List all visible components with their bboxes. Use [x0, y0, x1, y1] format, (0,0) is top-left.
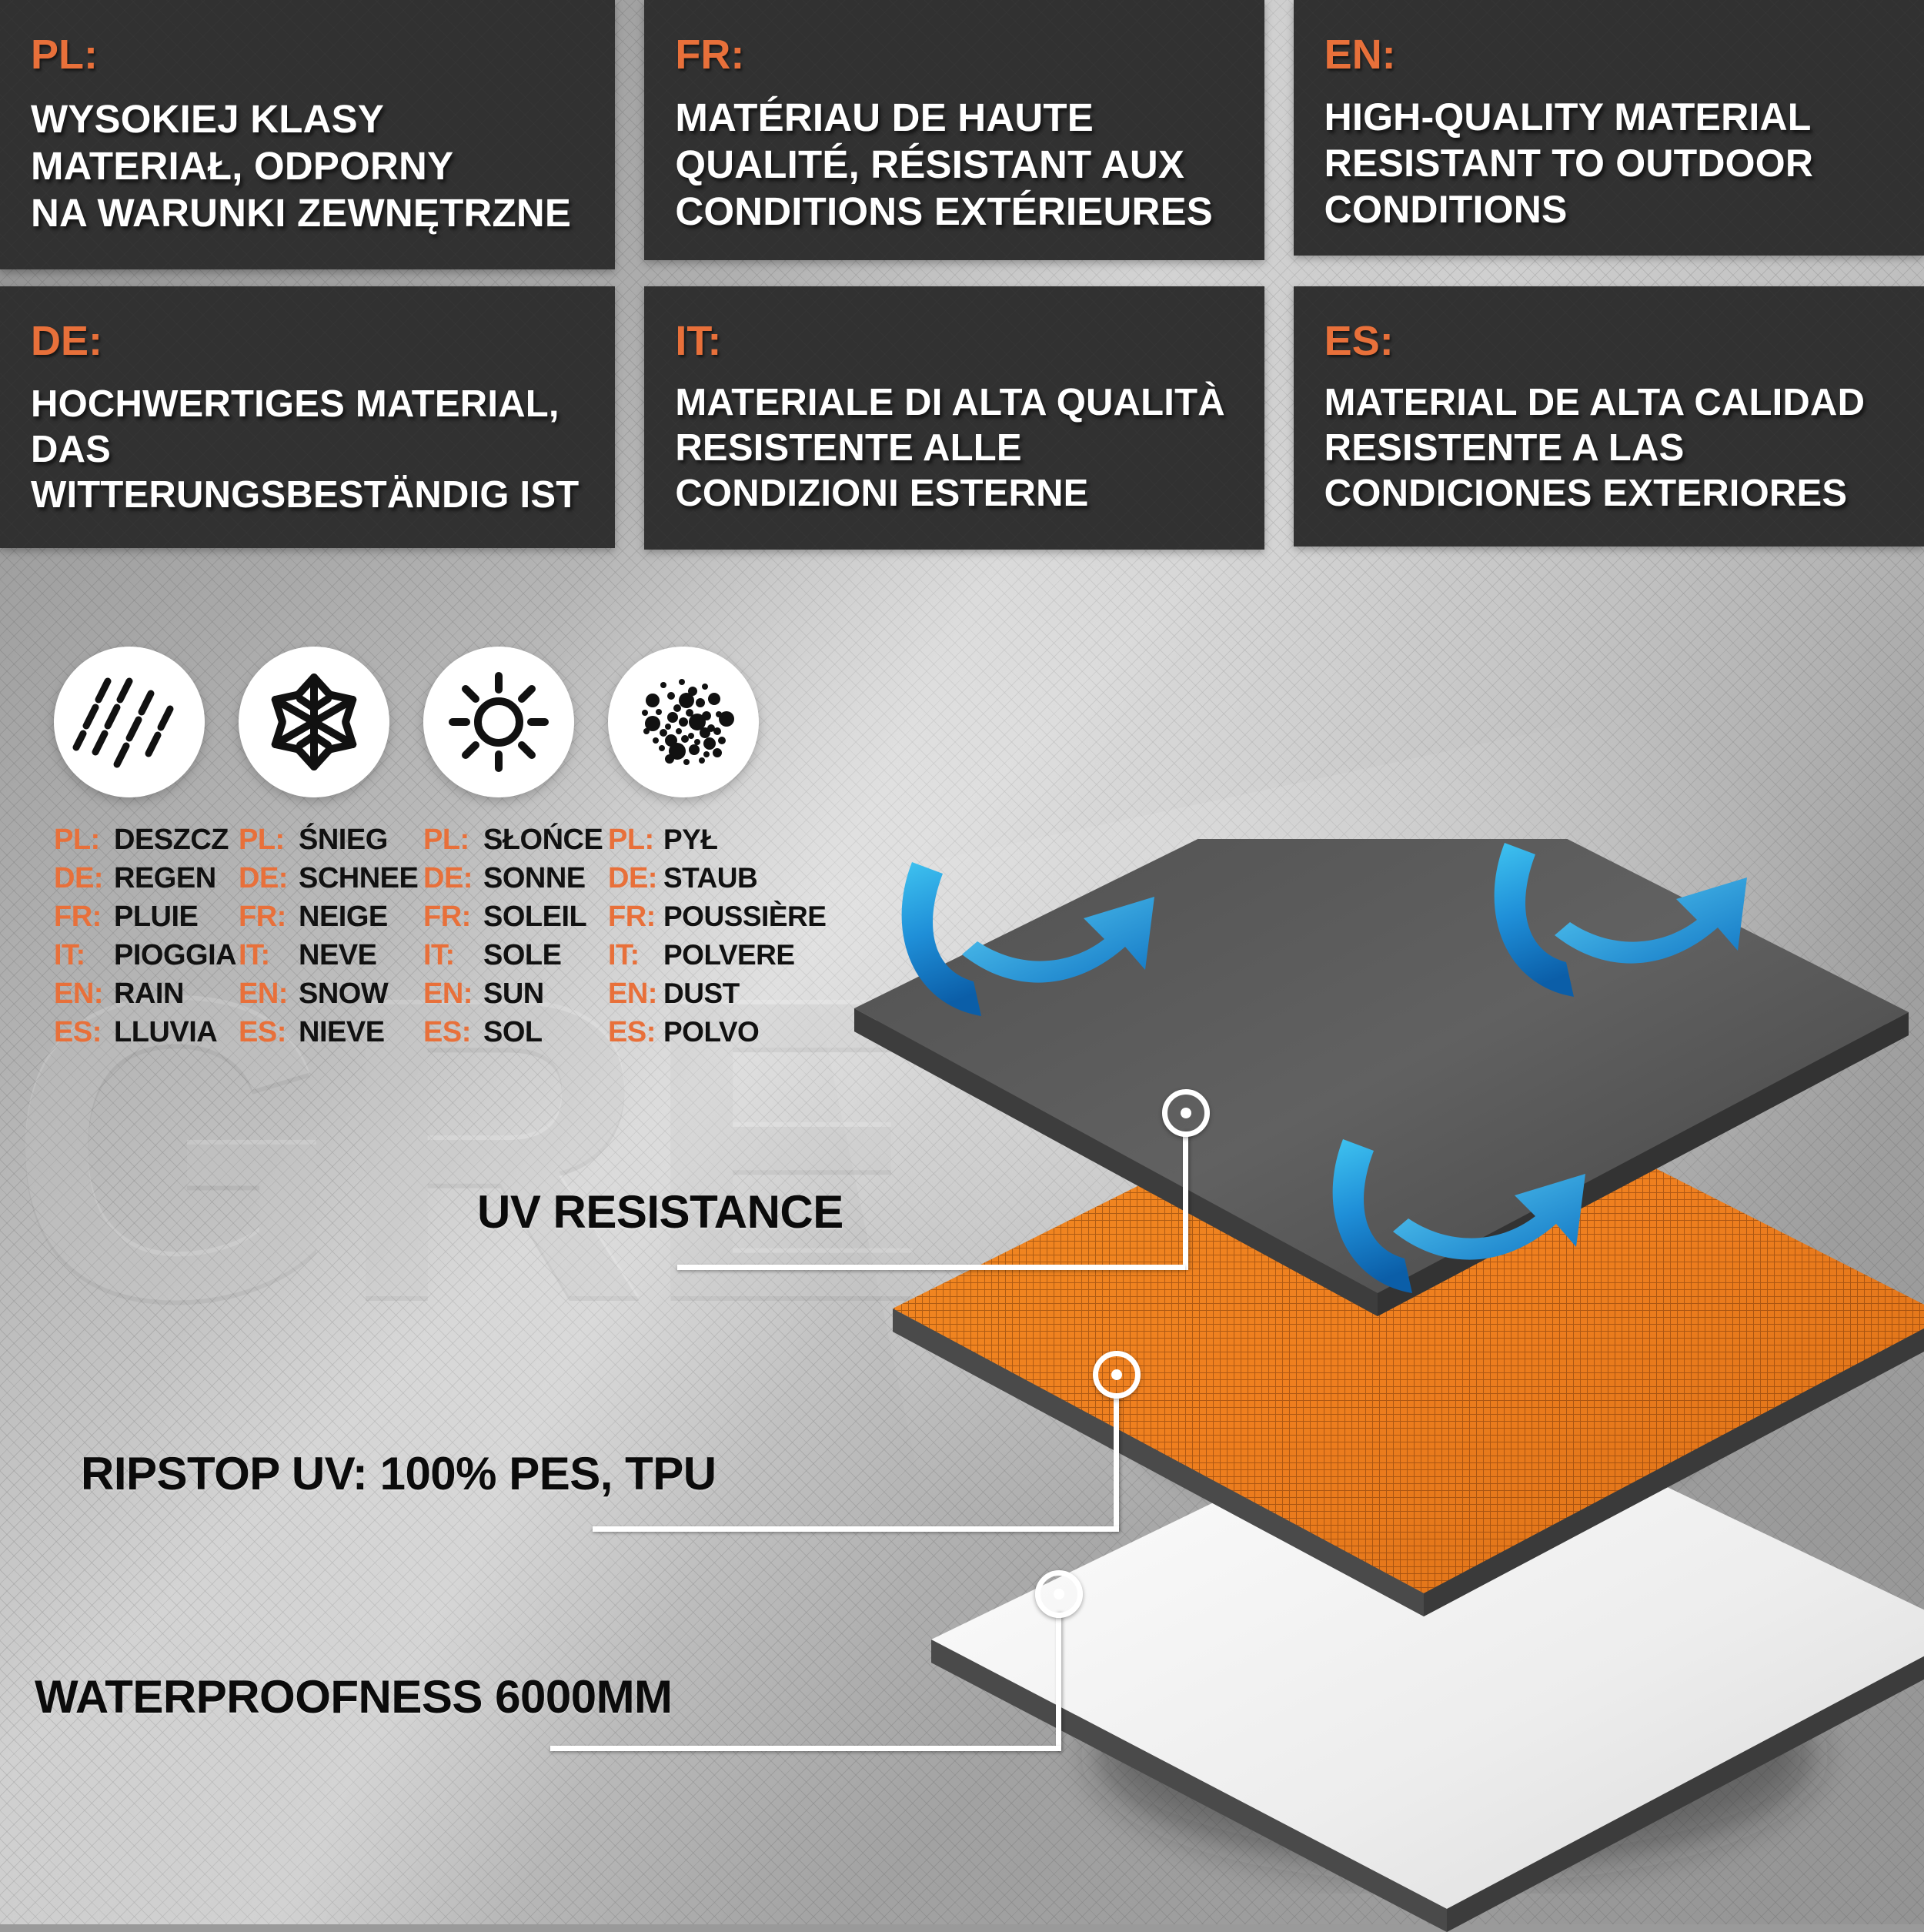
- lang-word: POLVERE: [663, 939, 795, 971]
- dust-icon-badge: [608, 647, 759, 797]
- callout-uv-resistance: UV RESISTANCE: [477, 1185, 843, 1238]
- lang-code: IT:: [239, 939, 299, 972]
- snowflake-icon: [263, 671, 365, 773]
- callout-ripstop-label: RIPSTOP UV: 100% PES, TPU: [81, 1447, 716, 1500]
- feature-word-columns: PL:DESZCZ DE:REGEN FR:PLUIE IT:PIOGGIA E…: [54, 824, 793, 1055]
- lang-code: EN:: [239, 978, 299, 1011]
- feature-icon-row: [54, 647, 793, 797]
- lang-word: PYŁ: [663, 824, 717, 856]
- lang-word: POUSSIÈRE: [663, 901, 826, 933]
- lang-code: DE:: [239, 862, 299, 895]
- lang-word: SUN: [483, 978, 544, 1011]
- lang-code: EN:: [608, 978, 663, 1011]
- lang-code: ES:: [608, 1016, 663, 1049]
- word-row: FR:POUSSIÈRE: [608, 901, 793, 937]
- lang-code: DE:: [608, 862, 663, 895]
- callout-uv-resistance-label: UV RESISTANCE: [477, 1185, 843, 1238]
- word-row: EN:RAIN: [54, 978, 239, 1014]
- word-row: PL:ŚNIEG: [239, 824, 423, 860]
- language-panels: PL: WYSOKIEJ KLASY MATERIAŁ, ODPORNY NA …: [0, 0, 1924, 567]
- lang-word: SOLEIL: [483, 901, 586, 934]
- panel-fr-text: MATÉRIAU DE HAUTE QUALITÉ, RÉSISTANT AUX…: [675, 94, 1233, 236]
- callout-dot-ripstop[interactable]: [1093, 1351, 1141, 1399]
- callout-ripstop: RIPSTOP UV: 100% PES, TPU: [81, 1447, 716, 1500]
- word-row: ES:POLVO: [608, 1016, 793, 1052]
- callout-waterproofness: WATERPROOFNESS 6000MM: [35, 1670, 673, 1723]
- word-row: DE:SONNE: [423, 862, 608, 898]
- callout-dot-uv-resistance[interactable]: [1162, 1089, 1210, 1137]
- lang-code: EN:: [423, 978, 483, 1011]
- lang-word: DUST: [663, 978, 740, 1010]
- lang-code: FR:: [423, 901, 483, 934]
- word-column-snow: PL:ŚNIEG DE:SCHNEE FR:NEIGE IT:NEVE EN:S…: [239, 824, 423, 1055]
- panel-it: IT: MATERIALE DI ALTA QUALITÀ RESISTENTE…: [644, 286, 1264, 550]
- panel-row-2: DE: HOCHWERTIGES MATERIAL, DAS WITTERUNG…: [0, 286, 1924, 567]
- panel-it-code: IT:: [675, 320, 1233, 362]
- rain-icon-badge: [54, 647, 205, 797]
- word-row: FR:PLUIE: [54, 901, 239, 937]
- word-row: IT:PIOGGIA: [54, 939, 239, 975]
- panel-en-text: HIGH-QUALITY MATERIAL RESISTANT TO OUTDO…: [1324, 94, 1893, 232]
- lang-word: SOLE: [483, 939, 561, 972]
- feature-rain: [54, 647, 239, 797]
- lang-code: PL:: [608, 824, 663, 857]
- lang-code: DE:: [54, 862, 114, 895]
- word-column-rain: PL:DESZCZ DE:REGEN FR:PLUIE IT:PIOGGIA E…: [54, 824, 239, 1055]
- word-row: PL:SŁOŃCE: [423, 824, 608, 860]
- lang-code: PL:: [54, 824, 114, 857]
- lang-word: SONNE: [483, 862, 586, 895]
- lang-word: PIOGGIA: [114, 939, 236, 972]
- feature-dust: [608, 647, 793, 797]
- panel-fr-code: FR:: [675, 34, 1233, 75]
- lang-word: DESZCZ: [114, 824, 229, 857]
- word-column-dust: PL:PYŁ DE:STAUB FR:POUSSIÈRE IT:POLVERE …: [608, 824, 793, 1055]
- lang-code: FR:: [239, 901, 299, 934]
- word-row: IT:SOLE: [423, 939, 608, 975]
- panel-es-text: MATERIAL DE ALTA CALIDAD RESISTENTE A LA…: [1324, 380, 1893, 516]
- lang-word: POLVO: [663, 1016, 759, 1048]
- lang-word: REGEN: [114, 862, 216, 895]
- lang-word: SOL: [483, 1016, 543, 1049]
- panel-fr: FR: MATÉRIAU DE HAUTE QUALITÉ, RÉSISTANT…: [644, 0, 1264, 260]
- word-column-sun: PL:SŁOŃCE DE:SONNE FR:SOLEIL IT:SOLE EN:…: [423, 824, 608, 1055]
- word-row: PL:DESZCZ: [54, 824, 239, 860]
- lang-word: SCHNEE: [299, 862, 418, 895]
- lang-code: EN:: [54, 978, 114, 1011]
- word-row: FR:NEIGE: [239, 901, 423, 937]
- feature-snow: [239, 647, 423, 797]
- lang-word: RAIN: [114, 978, 184, 1011]
- word-row: IT:POLVERE: [608, 939, 793, 975]
- panel-it-text: MATERIALE DI ALTA QUALITÀ RESISTENTE ALL…: [675, 380, 1233, 516]
- word-row: ES:LLUVIA: [54, 1016, 239, 1052]
- panel-de-code: DE:: [31, 320, 584, 362]
- rain-icon: [72, 664, 187, 780]
- panel-es: ES: MATERIAL DE ALTA CALIDAD RESISTENTE …: [1294, 286, 1924, 547]
- word-row: ES:NIEVE: [239, 1016, 423, 1052]
- callout-dot-waterproofness[interactable]: [1035, 1570, 1083, 1618]
- word-row: DE:SCHNEE: [239, 862, 423, 898]
- word-row: EN:DUST: [608, 978, 793, 1014]
- lang-word: PLUIE: [114, 901, 198, 934]
- panel-de: DE: HOCHWERTIGES MATERIAL, DAS WITTERUNG…: [0, 286, 615, 548]
- panel-pl-text: WYSOKIEJ KLASY MATERIAŁ, ODPORNY NA WARU…: [31, 95, 584, 237]
- lang-word: NIEVE: [299, 1016, 385, 1049]
- lang-code: IT:: [423, 939, 483, 972]
- lang-code: FR:: [54, 901, 114, 934]
- word-row: DE:STAUB: [608, 862, 793, 898]
- panel-de-text: HOCHWERTIGES MATERIAL, DAS WITTERUNGSBES…: [31, 382, 584, 517]
- material-layers-illustration: [839, 839, 1924, 1932]
- panel-pl: PL: WYSOKIEJ KLASY MATERIAŁ, ODPORNY NA …: [0, 0, 615, 269]
- dust-icon: [630, 668, 737, 776]
- lang-word: NEIGE: [299, 901, 388, 934]
- word-row: ES:SOL: [423, 1016, 608, 1052]
- panel-row-1: PL: WYSOKIEJ KLASY MATERIAŁ, ODPORNY NA …: [0, 0, 1924, 286]
- lang-word: LLUVIA: [114, 1016, 217, 1049]
- lang-word: NEVE: [299, 939, 376, 972]
- word-row: EN:SUN: [423, 978, 608, 1014]
- sun-icon-badge: [423, 647, 574, 797]
- callout-waterproofness-label: WATERPROOFNESS 6000MM: [35, 1670, 673, 1723]
- word-row: DE:REGEN: [54, 862, 239, 898]
- lang-code: ES:: [423, 1016, 483, 1049]
- word-row: FR:SOLEIL: [423, 901, 608, 937]
- lang-code: ES:: [239, 1016, 299, 1049]
- word-row: EN:SNOW: [239, 978, 423, 1014]
- panel-en: EN: HIGH-QUALITY MATERIAL RESISTANT TO O…: [1294, 0, 1924, 256]
- lang-code: DE:: [423, 862, 483, 895]
- lang-code: ES:: [54, 1016, 114, 1049]
- lang-code: PL:: [423, 824, 483, 857]
- word-row: IT:NEVE: [239, 939, 423, 975]
- lang-code: IT:: [54, 939, 114, 972]
- lang-code: IT:: [608, 939, 663, 972]
- lang-code: PL:: [239, 824, 299, 857]
- snowflake-icon-badge: [239, 647, 389, 797]
- lang-word: STAUB: [663, 862, 757, 894]
- lang-code: FR:: [608, 901, 663, 934]
- feature-sun: [423, 647, 608, 797]
- word-row: PL:PYŁ: [608, 824, 793, 860]
- lang-word: SNOW: [299, 978, 388, 1011]
- sun-icon: [448, 671, 549, 773]
- panel-es-code: ES:: [1324, 320, 1893, 362]
- lang-word: SŁOŃCE: [483, 824, 603, 857]
- panel-pl-code: PL:: [31, 34, 584, 75]
- panel-en-code: EN:: [1324, 34, 1893, 75]
- lang-word: ŚNIEG: [299, 824, 388, 857]
